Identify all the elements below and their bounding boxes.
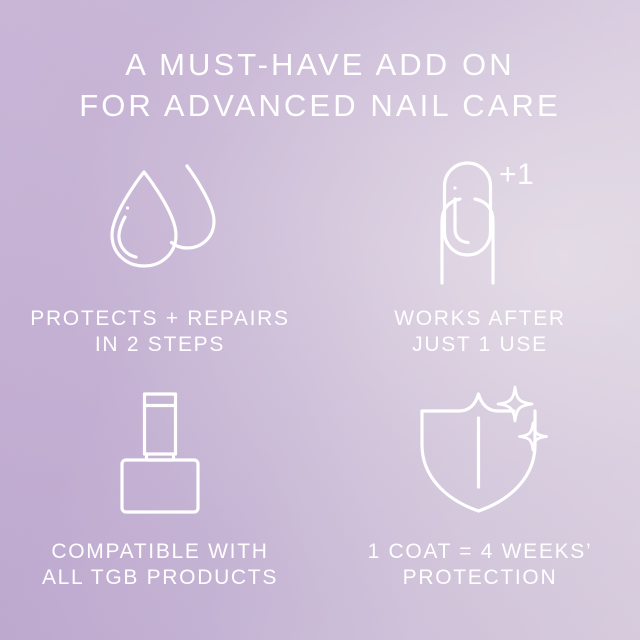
feature-caption: 1 COAT = 4 WEEKS’ PROTECTION bbox=[368, 539, 593, 591]
icon-container bbox=[108, 383, 212, 519]
icon-container bbox=[95, 150, 225, 290]
icon-container: +1 bbox=[417, 150, 543, 290]
sparkle-small-icon bbox=[520, 423, 547, 450]
feature-caption: PROTECTS + REPAIRS IN 2 STEPS bbox=[30, 306, 290, 358]
feature-caption: COMPATIBLE WITH ALL TGB PRODUCTS bbox=[42, 539, 278, 591]
icon-container bbox=[413, 383, 547, 519]
promo-poster: A MUST-HAVE ADD ON FOR ADVANCED NAIL CAR… bbox=[0, 0, 640, 640]
nail-polish-bottle-icon bbox=[108, 386, 212, 516]
feature-item-four-weeks-protection: 1 COAT = 4 WEEKS’ PROTECTION bbox=[320, 383, 640, 616]
shield-sparkle-icon bbox=[413, 387, 547, 515]
plus-one-badge: +1 bbox=[499, 158, 534, 191]
feature-item-compatible-products: COMPATIBLE WITH ALL TGB PRODUCTS bbox=[0, 383, 320, 616]
sparkle-large-icon bbox=[498, 387, 532, 421]
feature-item-protects-repairs: PROTECTS + REPAIRS IN 2 STEPS bbox=[0, 150, 320, 383]
feature-caption: WORKS AFTER JUST 1 USE bbox=[394, 306, 566, 358]
feature-grid: PROTECTS + REPAIRS IN 2 STEPS +1 WORK bbox=[0, 150, 640, 616]
fingertip-nail-icon: +1 bbox=[417, 157, 543, 283]
feature-item-works-after-one-use: +1 WORKS AFTER JUST 1 USE bbox=[320, 150, 640, 383]
two-droplets-icon bbox=[95, 158, 225, 282]
page-title: A MUST-HAVE ADD ON FOR ADVANCED NAIL CAR… bbox=[0, 44, 640, 126]
